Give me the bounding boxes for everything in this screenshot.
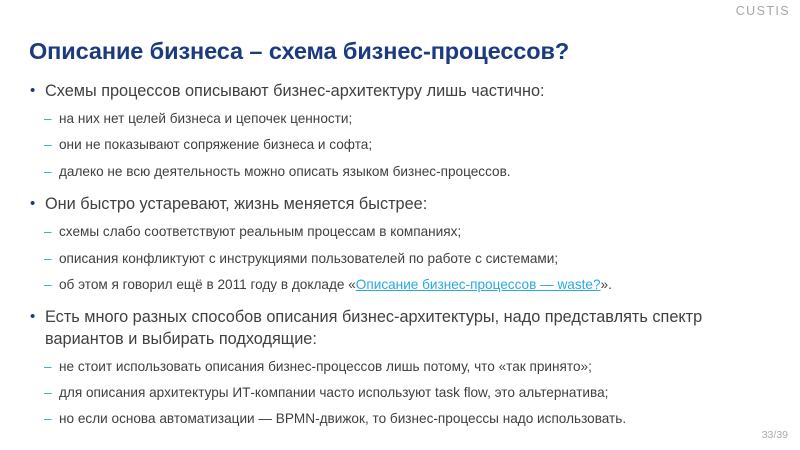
sub-bullet-text: на них нет целей бизнеса и цепочек ценно… [59, 110, 772, 128]
bullet-text: Есть много разных способов описания бизн… [45, 307, 772, 349]
sub-bullet-item-with-link: – об этом я говорил ещё в 2011 году в до… [28, 276, 772, 294]
sub-bullet-item: – для описания архитектуры ИТ-компании ч… [28, 384, 772, 402]
en-dash-icon: – [44, 384, 59, 402]
sub-bullet-text: для описания архитектуры ИТ-компании час… [59, 384, 772, 402]
sub-bullet-item: – но если основа автоматизации — BPMN-дв… [28, 410, 772, 428]
sub-bullet-text: не стоит использовать описания бизнес-пр… [59, 358, 772, 376]
custis-logo: CUSTIS [736, 4, 790, 18]
en-dash-icon: – [44, 410, 59, 428]
sub-bullet-item: – они не показывают сопряжение бизнеса и… [28, 136, 772, 154]
bullet-dot-icon: • [28, 307, 45, 328]
bullet-item: • Есть много разных способов описания би… [28, 307, 772, 349]
text-before-link: об этом я говорил ещё в 2011 году в докл… [59, 277, 356, 292]
slide-title: Описание бизнеса – схема бизнес-процессо… [29, 38, 759, 65]
bullet-item: • Схемы процессов описывают бизнес-архит… [28, 81, 772, 102]
page-number: 33/39 [762, 429, 788, 441]
en-dash-icon: – [44, 223, 59, 241]
presentation-slide: CUSTIS Описание бизнеса – схема бизнес-п… [0, 0, 800, 450]
en-dash-icon: – [44, 163, 59, 181]
sub-bullet-text: они не показывают сопряжение бизнеса и с… [59, 136, 772, 154]
sub-bullet-text: об этом я говорил ещё в 2011 году в докл… [59, 276, 772, 294]
sub-bullet-item: – схемы слабо соответствуют реальным про… [28, 223, 772, 241]
bullet-item: • Они быстро устаревают, жизнь меняется … [28, 194, 772, 215]
sub-bullet-text: но если основа автоматизации — BPMN-движ… [59, 410, 772, 428]
en-dash-icon: – [44, 276, 59, 294]
sub-bullet-item: – описания конфликтуют с инструкциями по… [28, 250, 772, 268]
sub-bullet-item: – на них нет целей бизнеса и цепочек цен… [28, 110, 772, 128]
sub-bullet-text: далеко не всю деятельность можно описать… [59, 163, 772, 181]
bullet-text: Они быстро устаревают, жизнь меняется бы… [45, 194, 772, 215]
sub-bullet-text: описания конфликтуют с инструкциями поль… [59, 250, 772, 268]
report-hyperlink[interactable]: Описание бизнес-процессов — waste? [356, 277, 601, 292]
en-dash-icon: – [44, 358, 59, 376]
bullet-dot-icon: • [28, 194, 45, 215]
bullet-group: • Есть много разных способов описания би… [28, 307, 772, 427]
sub-bullet-text: схемы слабо соответствуют реальным проце… [59, 223, 772, 241]
text-after-link: ». [601, 277, 612, 292]
sub-bullet-item: – не стоит использовать описания бизнес-… [28, 358, 772, 376]
en-dash-icon: – [44, 110, 59, 128]
bullet-text: Схемы процессов описывают бизнес-архитек… [45, 81, 772, 102]
en-dash-icon: – [44, 250, 59, 268]
bullet-dot-icon: • [28, 81, 45, 102]
slide-body: • Схемы процессов описывают бизнес-архит… [28, 78, 772, 428]
sub-bullet-item: – далеко не всю деятельность можно описа… [28, 163, 772, 181]
bullet-group: • Схемы процессов описывают бизнес-архит… [28, 81, 772, 180]
en-dash-icon: – [44, 136, 59, 154]
bullet-group: • Они быстро устаревают, жизнь меняется … [28, 194, 772, 293]
